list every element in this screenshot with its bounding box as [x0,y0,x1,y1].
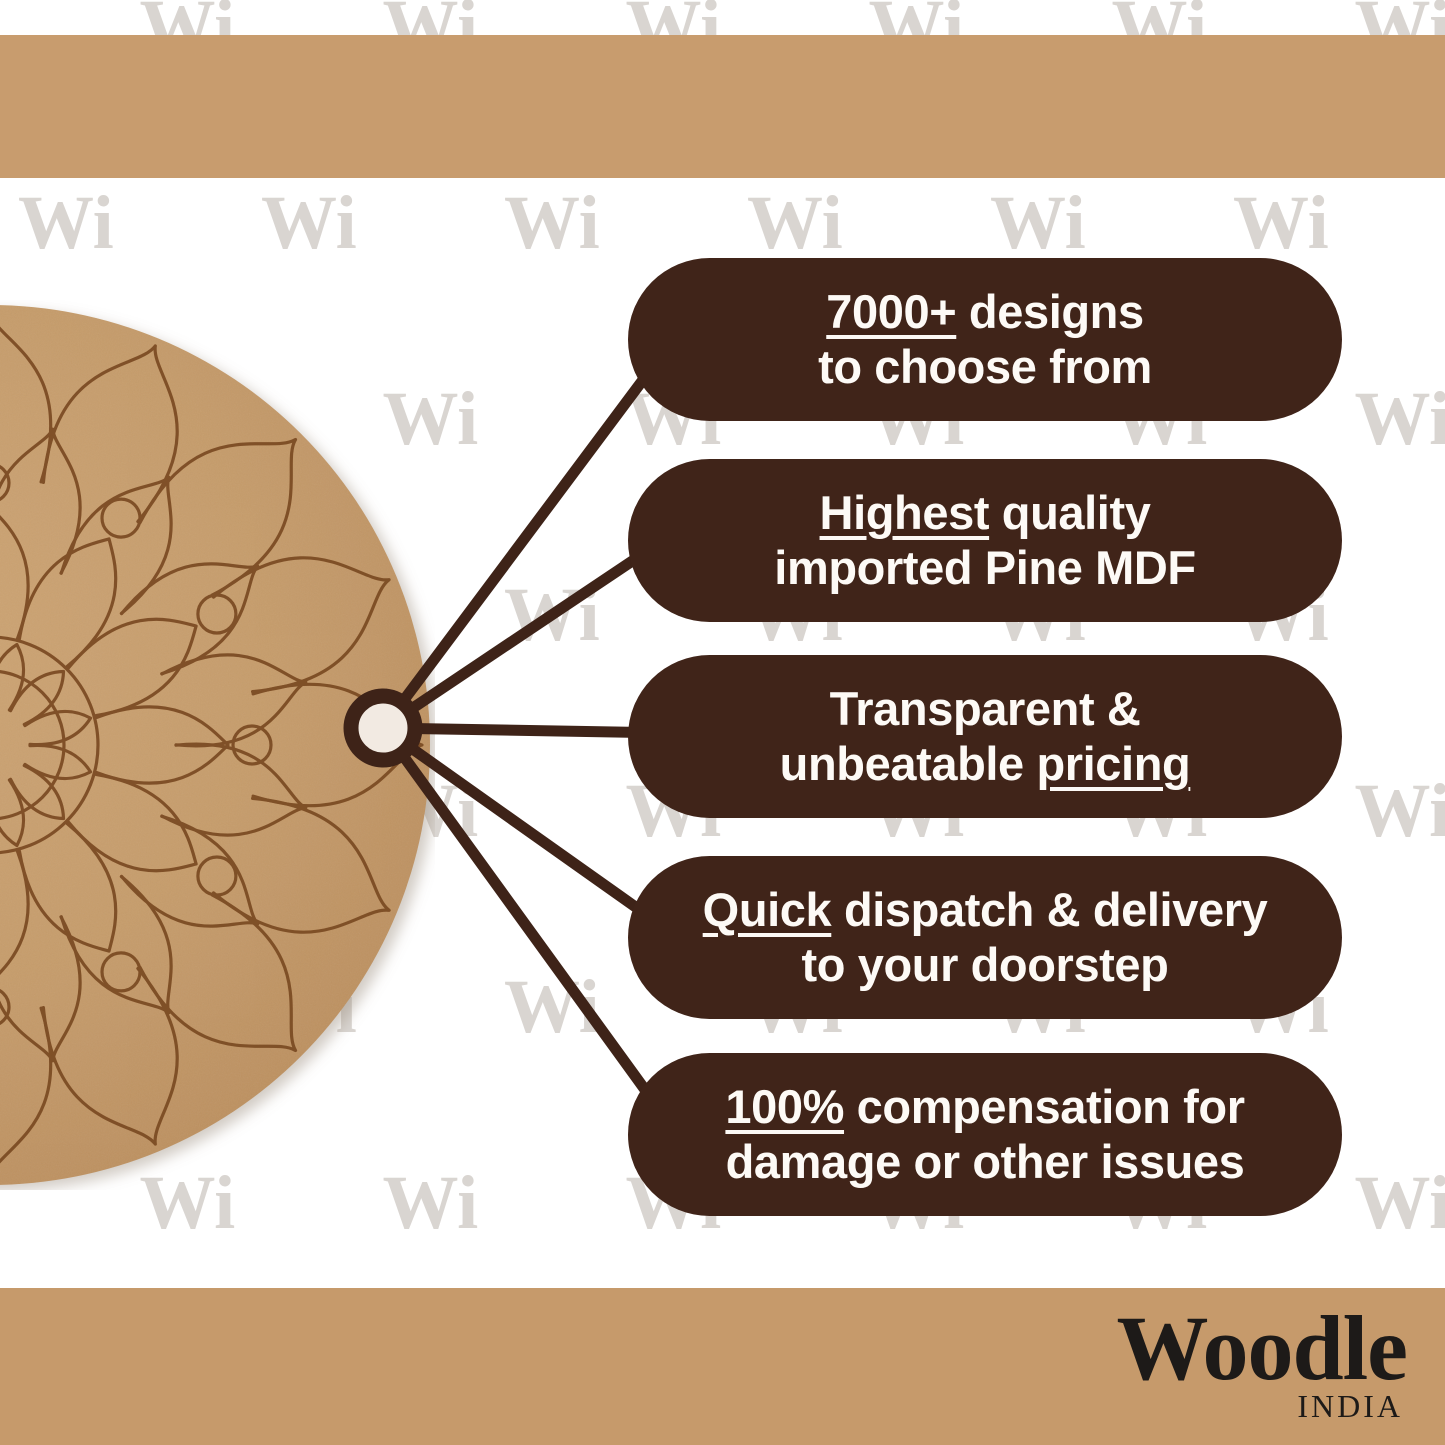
usp-pill-quality-line1: Highest quality [820,486,1151,541]
underlined-term: Quick [703,883,832,936]
underlined-term: 7000+ [826,285,956,338]
usp-pill-dispatch-line2: to your doorstep [802,938,1169,993]
usp-pill-compensation[interactable]: 100% compensation for damage or other is… [628,1053,1342,1216]
usp-pill-compensation-line1: 100% compensation for [725,1080,1244,1135]
usp-pill-quality[interactable]: Highest quality imported Pine MDF [628,459,1342,622]
brand-logo-word: Woodle [1117,1302,1407,1394]
usp-pill-pricing-line2: unbeatable pricing [780,737,1191,792]
usp-pill-pricing[interactable]: Transparent & unbeatable pricing [628,655,1342,818]
usp-pill-designs-line2: to choose from [818,340,1152,395]
brand-logo: Woodle INDIA [1117,1302,1407,1422]
underlined-term: 100% [725,1080,844,1133]
underlined-term: Highest [820,486,990,539]
header-band [0,35,1445,178]
usp-pill-dispatch[interactable]: Quick dispatch & delivery to your doorst… [628,856,1342,1019]
underlined-term: pricing [1036,737,1190,790]
usp-pill-list: 7000+ designs to choose from Highest qua… [0,0,1445,1445]
usp-pill-designs[interactable]: 7000+ designs to choose from [628,258,1342,421]
usp-pill-pricing-line1: Transparent & [830,682,1141,737]
usp-pill-dispatch-line1: Quick dispatch & delivery [703,883,1268,938]
usp-pill-compensation-line2: damage or other issues [726,1135,1245,1190]
infographic-page: WiWiWiWiWiWiWiWiWiWiWiWiWiWiWiWiWiWiWiWi… [0,0,1445,1445]
usp-pill-designs-line1: 7000+ designs [826,285,1143,340]
usp-pill-quality-line2: imported Pine MDF [774,541,1195,596]
